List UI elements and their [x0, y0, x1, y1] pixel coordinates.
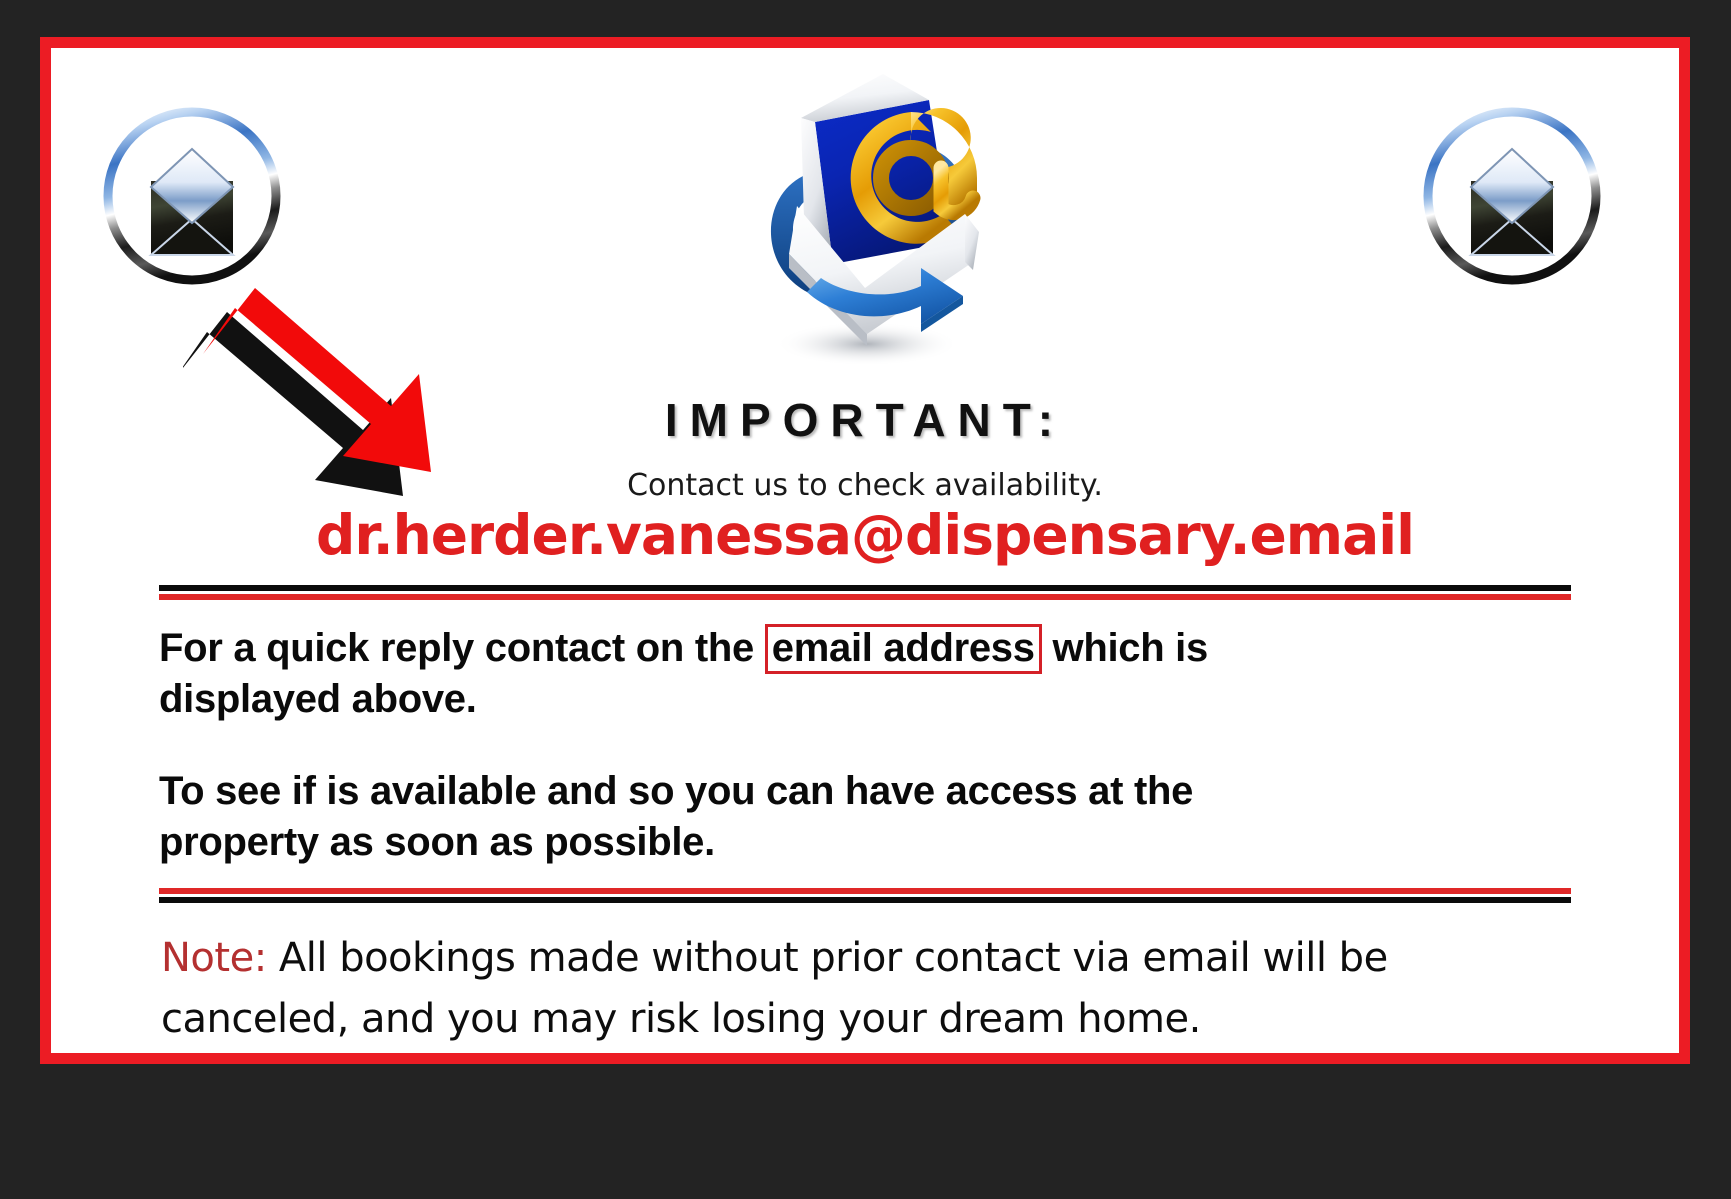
paragraph-one-line-one: For a quick reply contact on the email a… — [159, 623, 1579, 674]
divider-bottom — [159, 888, 1571, 901]
subtitle: Contact us to check availability. — [51, 468, 1679, 503]
paragraph-two: To see if is available and so you can ha… — [159, 766, 1579, 868]
divider-bar-red — [159, 594, 1571, 600]
envelope-circle-icon — [1419, 103, 1605, 289]
email-address-highlight: email address — [765, 624, 1042, 674]
envelope-circle-icon — [99, 103, 285, 289]
note-text-one: All bookings made without prior contact … — [279, 935, 1388, 981]
flyer-frame: IMPORTANT: Contact us to check availabil… — [40, 37, 1690, 1064]
paragraph-two-line-two: property as soon as possible. — [159, 817, 1579, 868]
at-symbol-envelope-icon — [715, 56, 1015, 376]
paragraph-one: For a quick reply contact on the email a… — [159, 623, 1579, 725]
page-title: IMPORTANT: — [51, 393, 1679, 447]
note-label: Note: — [161, 935, 267, 981]
note-line-one: Note: All bookings made without prior co… — [161, 928, 1581, 989]
paragraph-two-line-one: To see if is available and so you can ha… — [159, 766, 1579, 817]
paragraph-one-before: For a quick reply contact on the — [159, 626, 754, 670]
note-block: Note: All bookings made without prior co… — [161, 928, 1581, 1050]
paragraph-one-line-two: displayed above. — [159, 674, 1579, 725]
contact-email[interactable]: dr.herder.vanessa@dispensary.email — [51, 503, 1679, 567]
divider-top — [159, 585, 1571, 598]
divider-bar-black — [159, 897, 1571, 903]
paragraph-one-after: which is — [1053, 626, 1208, 670]
note-line-two: canceled, and you may risk losing your d… — [161, 989, 1581, 1050]
flyer-body: IMPORTANT: Contact us to check availabil… — [51, 48, 1679, 1053]
